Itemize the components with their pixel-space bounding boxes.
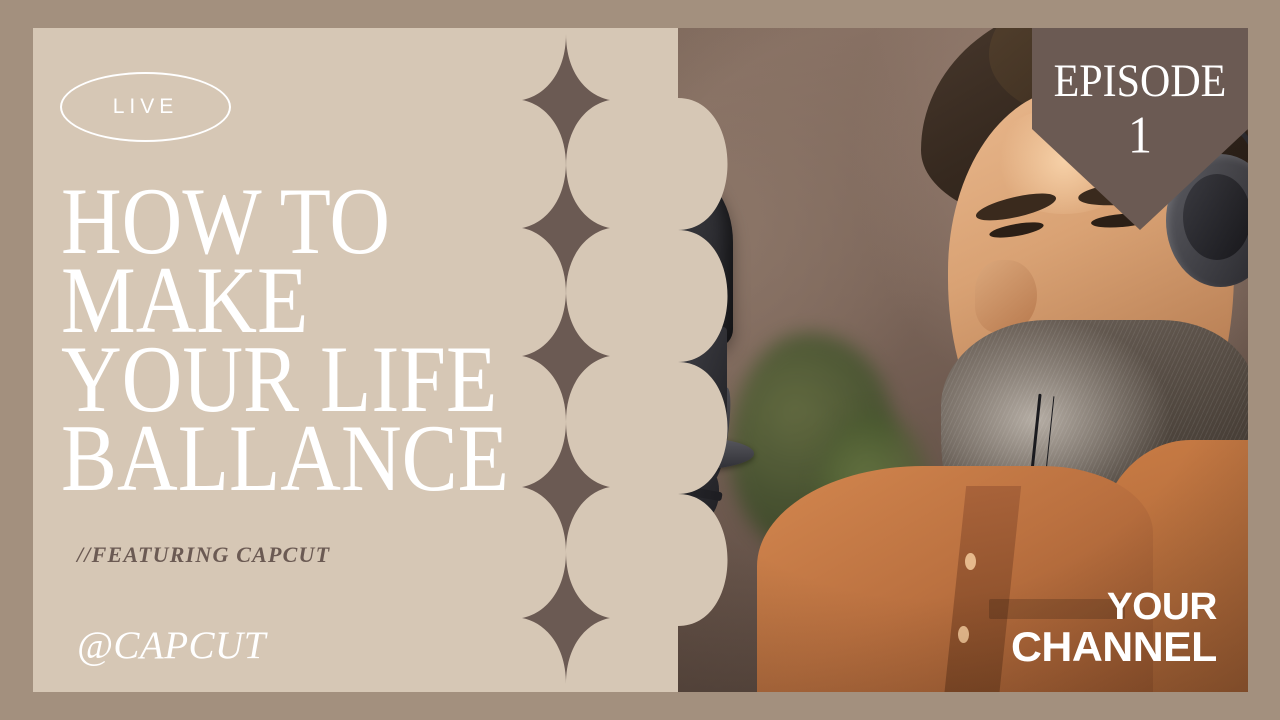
- page-title: HOW TO MAKE YOUR LIFE BALLANCE: [61, 178, 531, 494]
- channel-line-1: YOUR: [1011, 588, 1217, 626]
- sparkle-icon: [522, 421, 610, 553]
- episode-label: EPISODE: [1054, 58, 1227, 105]
- sparkle-icon: [522, 552, 610, 684]
- title-line-4: BALLANCE: [61, 415, 531, 505]
- youtube-thumbnail: LIVE HOW TO MAKE YOUR LIFE BALLANCE //FE…: [0, 0, 1280, 720]
- sparkle-icon: [522, 34, 610, 166]
- thumbnail-canvas: LIVE HOW TO MAKE YOUR LIFE BALLANCE //FE…: [33, 28, 1248, 692]
- live-badge-label: LIVE: [113, 95, 179, 119]
- social-handle: @CAPCUT: [77, 623, 266, 668]
- sparkle-icon: [522, 162, 610, 294]
- channel-name: YOUR CHANNEL: [1013, 588, 1215, 668]
- episode-number: 1: [1128, 110, 1152, 163]
- channel-line-2: CHANNEL: [1011, 626, 1217, 668]
- sparkle-icon: [522, 290, 610, 422]
- featuring-label: //FEATURING CAPCUT: [77, 542, 330, 568]
- live-badge: LIVE: [60, 72, 231, 142]
